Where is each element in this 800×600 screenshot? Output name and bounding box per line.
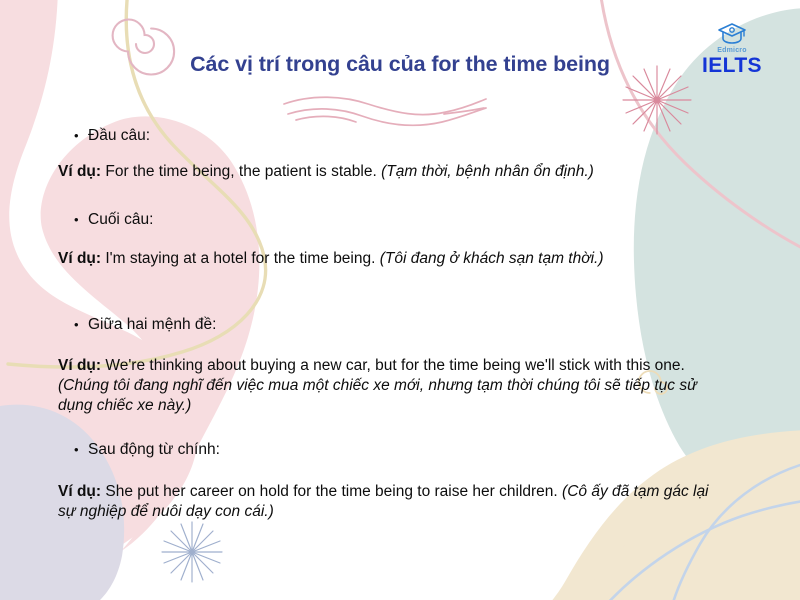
- example-block-1: Ví dụ: For the time being, the patient i…: [58, 162, 706, 182]
- example-english-text: She put her career on hold for the time …: [105, 483, 557, 500]
- example-block-4: Ví dụ: She put her career on hold for th…: [58, 482, 718, 522]
- example-lead-label: Ví dụ:: [58, 163, 101, 180]
- example-block-3: Ví dụ: We're thinking about buying a new…: [58, 356, 710, 416]
- example-block-2: Ví dụ: I'm staying at a hotel for the ti…: [58, 249, 700, 269]
- bullet-heading-label: Cuối câu:: [88, 210, 153, 230]
- bullet-heading-2: • Cuối câu:: [74, 210, 153, 230]
- example-lead-label: Ví dụ:: [58, 250, 101, 267]
- bullet-heading-3: • Giữa hai mệnh đề:: [74, 315, 216, 335]
- bullet-point-icon: •: [74, 213, 88, 226]
- example-lead-label: Ví dụ:: [58, 483, 101, 500]
- example-english-text: We're thinking about buying a new car, b…: [105, 357, 684, 374]
- bullet-point-icon: •: [74, 443, 88, 456]
- bullet-heading-label: Giữa hai mệnh đề:: [88, 315, 216, 335]
- example-lead-label: Ví dụ:: [58, 357, 101, 374]
- example-vietnamese-text: (Chúng tôi đang nghĩ đến việc mua một ch…: [58, 377, 697, 414]
- bullet-heading-1: • Đầu câu:: [74, 126, 150, 146]
- page-title: Các vị trí trong câu của for the time be…: [0, 52, 800, 77]
- example-english-text: For the time being, the patient is stabl…: [105, 163, 376, 180]
- bullet-heading-4: • Sau động từ chính:: [74, 440, 220, 460]
- bullet-heading-label: Đầu câu:: [88, 126, 150, 146]
- example-english-text: I'm staying at a hotel for the time bein…: [105, 250, 375, 267]
- graduation-cap-icon: [686, 22, 778, 46]
- example-vietnamese-text: (Tôi đang ở khách sạn tạm thời.): [380, 250, 604, 267]
- bullet-heading-label: Sau động từ chính:: [88, 440, 220, 460]
- bullet-point-icon: •: [74, 129, 88, 142]
- slide-canvas: Edmicro IELTS Các vị trí trong câu của f…: [0, 0, 800, 600]
- example-vietnamese-text: (Tạm thời, bệnh nhân ổn định.): [381, 163, 594, 180]
- bullet-point-icon: •: [74, 318, 88, 331]
